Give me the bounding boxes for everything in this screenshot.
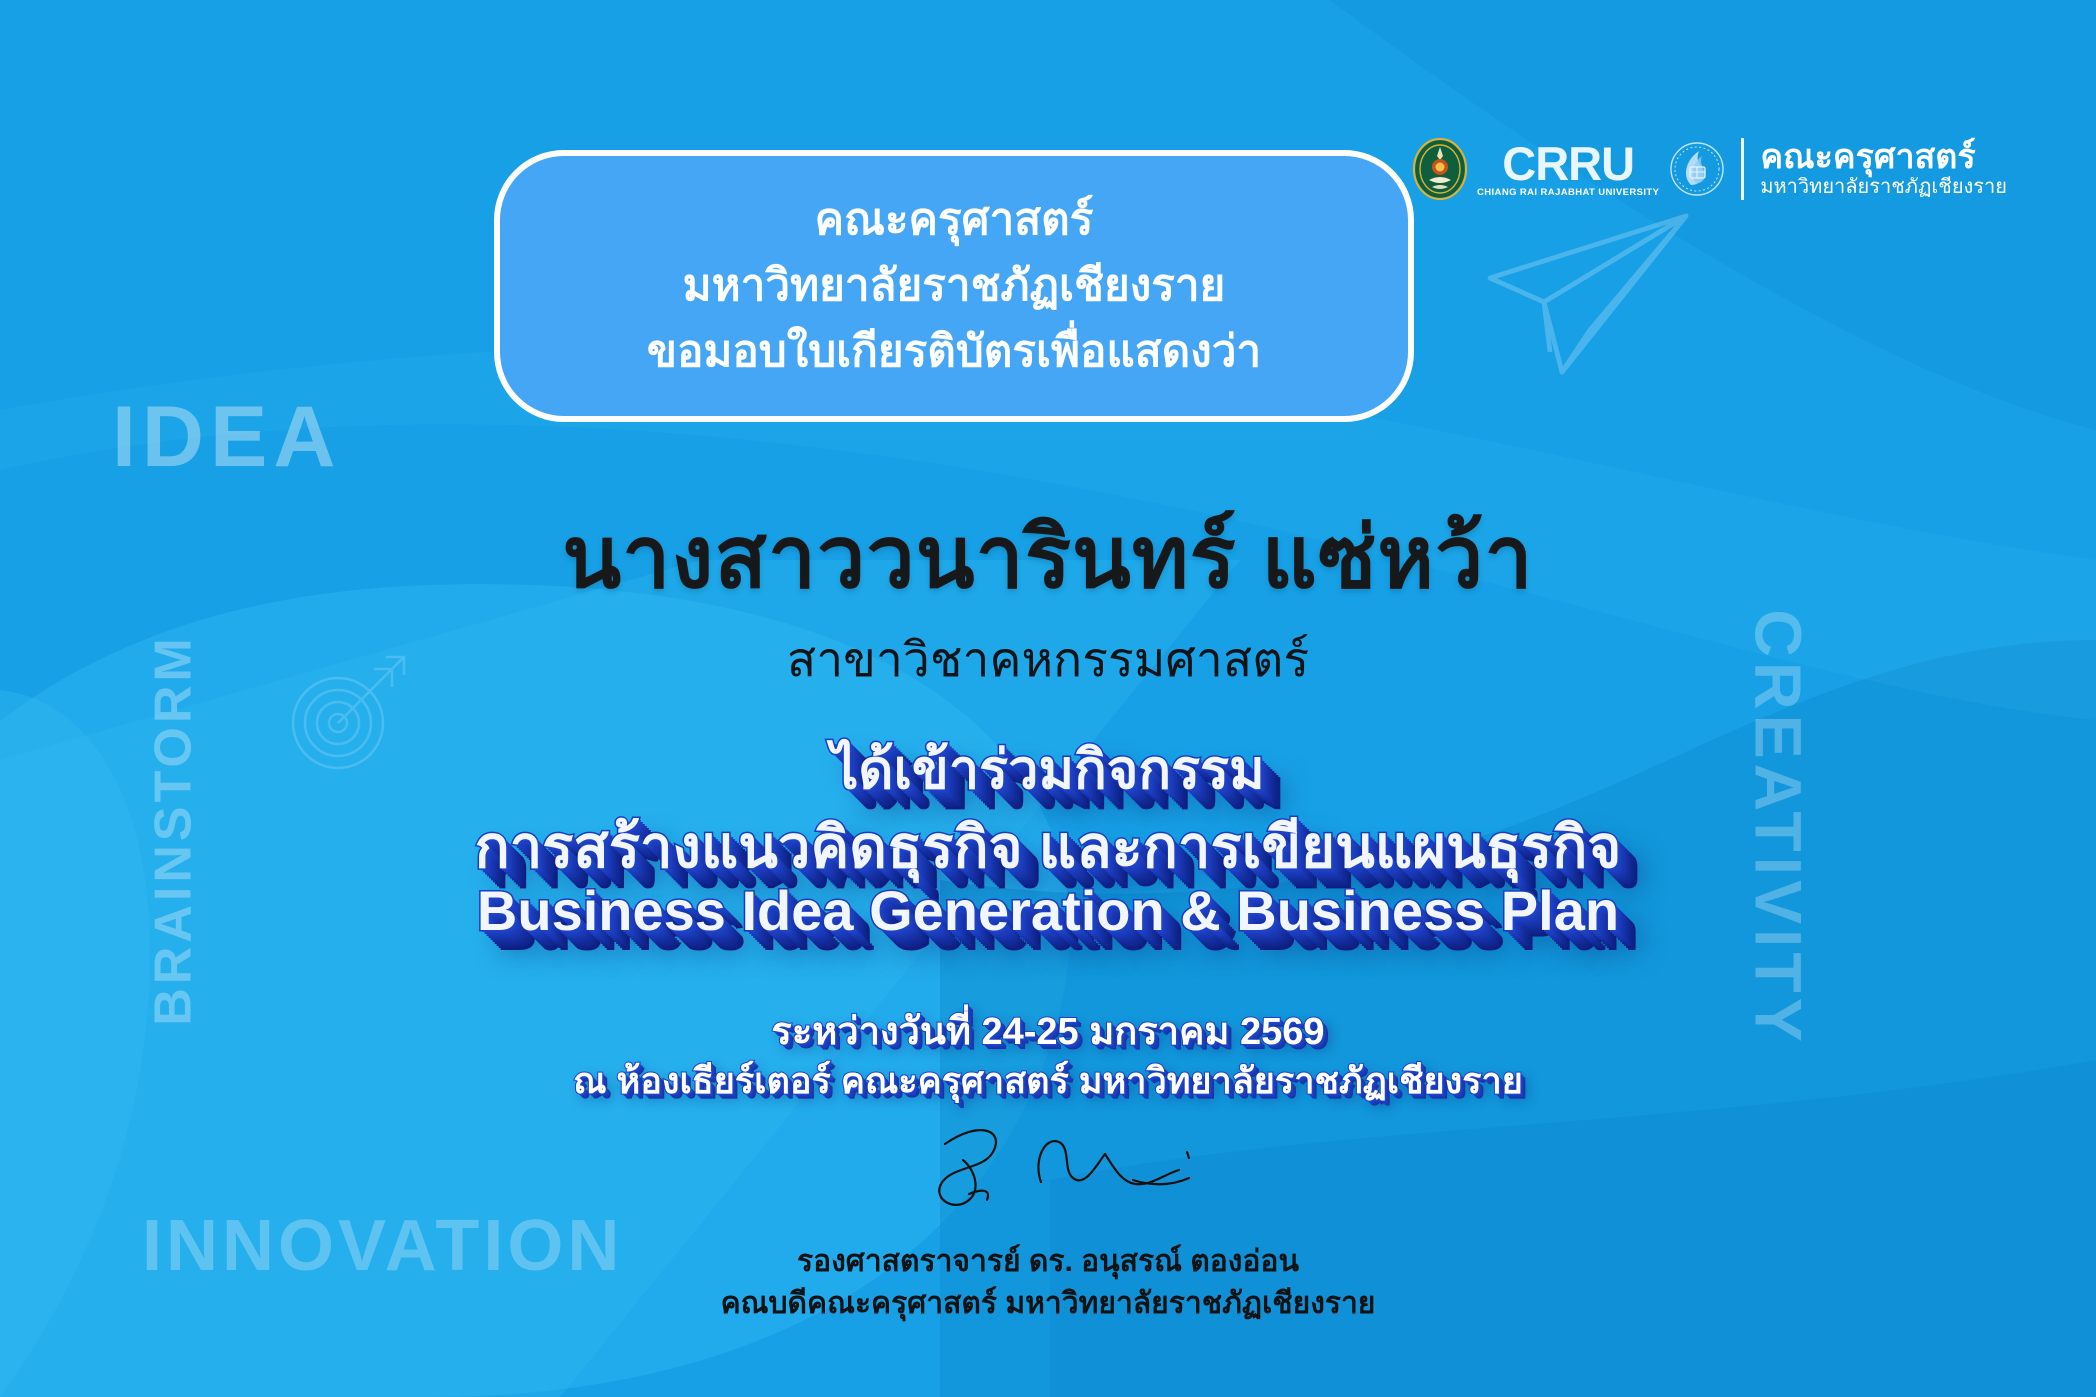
crru-wordmark: CRRU CHIANG RAI RAJABHAT UNIVERSITY xyxy=(1477,140,1659,198)
signature-block xyxy=(0,1108,2096,1228)
royal-seal-icon xyxy=(1412,138,1468,200)
faculty-names: คณะครุศาสตร์ มหาวิทยาลัยราชภัฏเชียงราย xyxy=(1760,140,2007,198)
header-line-2: มหาวิทยาลัยราชภัฏเชียงราย xyxy=(683,258,1226,314)
logo-divider xyxy=(1741,138,1744,200)
header-statement-box: คณะครุศาสตร์ มหาวิทยาลัยราชภัฏเชียงราย ข… xyxy=(494,150,1414,422)
crru-subtitle: CHIANG RAI RAJABHAT UNIVERSITY xyxy=(1477,188,1659,198)
recipient-field: สาขาวิชาคหกรรมศาสตร์ xyxy=(0,622,2096,698)
handwritten-signature xyxy=(883,1108,1213,1228)
logo-bar: CRRU CHIANG RAI RAJABHAT UNIVERSITY คณะค… xyxy=(1412,128,2007,210)
paper-plane-icon xyxy=(1478,208,1698,408)
crru-logo: CRRU CHIANG RAI RAJABHAT UNIVERSITY xyxy=(1412,138,1659,200)
bg-topright-wedge xyxy=(1330,0,2096,430)
recipient-name: นางสาววนารินทร์ แซ่หว้า xyxy=(0,488,2096,625)
certificate-canvas: IDEA BRAINSTORM INNOVATION CREATIVITY xyxy=(0,0,2096,1397)
header-line-1: คณะครุศาสตร์ xyxy=(815,192,1094,248)
watermark-idea: IDEA xyxy=(112,388,341,487)
signer-title: คณบดีคณะครุศาสตร์ มหาวิทยาลัยราชภัฏเชียง… xyxy=(0,1280,2096,1327)
crru-letters: CRRU xyxy=(1502,140,1634,187)
event-venue: ณ ห้องเธียร์เตอร์ คณะครุศาสตร์ มหาวิทยาล… xyxy=(0,1052,2096,1109)
faculty-emblem-icon xyxy=(1669,141,1725,197)
activity-title-en: Business Idea Generation & Business Plan xyxy=(0,878,2096,943)
header-line-3: ขอมอบใบเกียรติบัตรเพื่อแสดงว่า xyxy=(647,324,1261,380)
signer-name: รองศาสตราจารย์ ดร. อนุสรณ์ ตองอ่อน xyxy=(0,1238,2096,1285)
faculty-name-th: คณะครุศาสตร์ xyxy=(1760,140,2007,176)
university-name-th: มหาวิทยาลัยราชภัฏเชียงราย xyxy=(1760,177,2007,198)
